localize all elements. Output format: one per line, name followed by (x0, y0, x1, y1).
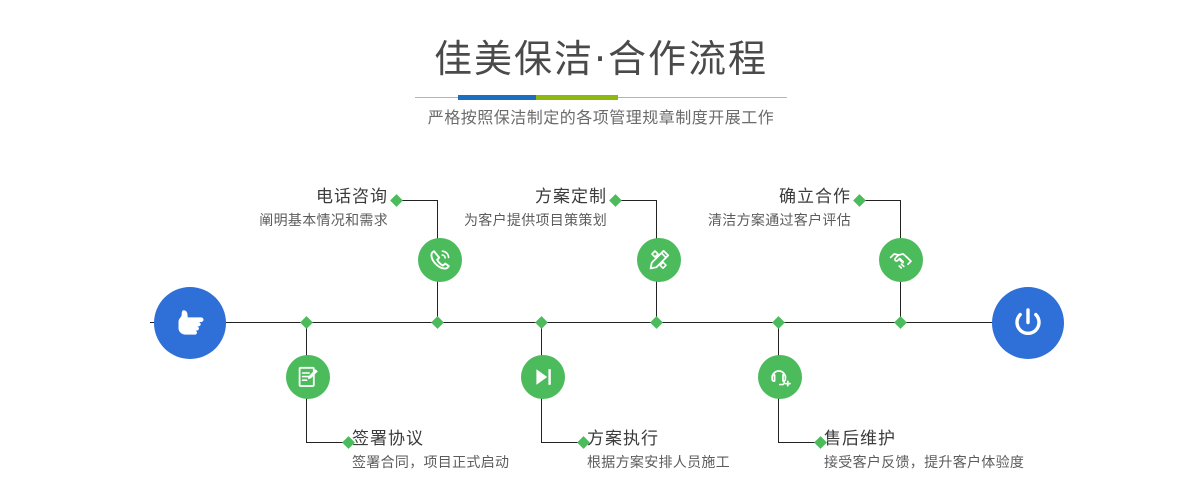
timeline-marker-step-5 (894, 316, 907, 329)
document-edit-icon (295, 364, 321, 390)
step-title-3: 方案定制 (390, 186, 607, 208)
step-node-after-sales[interactable] (758, 355, 802, 399)
flow-start-node (154, 287, 226, 359)
page-subtitle: 严格按照保洁制定的各项管理规章制度开展工作 (0, 106, 1202, 130)
headset-support-icon (767, 364, 793, 390)
timeline-marker-step-2 (300, 316, 313, 329)
step-label-plan-customization: 方案定制 为客户提供项目策策划 (390, 186, 607, 232)
timeline-marker-step-1 (431, 316, 444, 329)
step-node-sign-agreement[interactable] (286, 355, 330, 399)
step-desc-4: 根据方案安排人员施工 (587, 452, 817, 474)
divider-segment-green (536, 95, 618, 100)
step-desc-5: 清洁方案通过客户评估 (630, 210, 851, 232)
label-marker-step-3 (609, 194, 622, 207)
pencil-ruler-icon (646, 247, 672, 273)
title-divider (415, 95, 787, 100)
step-node-plan-execution[interactable] (521, 355, 565, 399)
step-desc-2: 签署合同，项目正式启动 (352, 452, 582, 474)
step-label-after-sales: 售后维护 接受客户反馈，提升客户体验度 (824, 428, 1084, 474)
timeline-marker-step-6 (772, 316, 785, 329)
cooperation-flow-infographic: 佳美保洁·合作流程 严格按照保洁制定的各项管理规章制度开展工作 (0, 0, 1202, 502)
phone-call-icon (427, 247, 453, 273)
label-marker-step-5 (853, 194, 866, 207)
timeline-marker-step-4 (535, 316, 548, 329)
step-label-establish-cooperation: 确立合作 清洁方案通过客户评估 (630, 186, 851, 232)
play-forward-icon (530, 364, 556, 390)
step-node-phone-consult[interactable] (418, 238, 462, 282)
step-desc-3: 为客户提供项目策策划 (390, 210, 607, 232)
step-node-establish-cooperation[interactable] (879, 238, 923, 282)
power-button-icon (1009, 304, 1047, 342)
flow-end-node (992, 287, 1064, 359)
page-title: 佳美保洁·合作流程 (0, 36, 1202, 82)
timeline-axis (150, 322, 1055, 323)
step-title-4: 方案执行 (587, 428, 817, 450)
hand-pointing-right-icon (170, 306, 210, 340)
step-label-phone-consult: 电话咨询 阐明基本情况和需求 (170, 186, 388, 232)
divider-segment-blue (458, 95, 536, 100)
step-node-plan-customization[interactable] (637, 238, 681, 282)
step-title-1: 电话咨询 (170, 186, 388, 208)
step-label-plan-execution: 方案执行 根据方案安排人员施工 (587, 428, 817, 474)
handshake-icon (888, 247, 914, 273)
timeline-marker-step-3 (650, 316, 663, 329)
step-title-2: 签署协议 (352, 428, 582, 450)
step-title-6: 售后维护 (824, 428, 1084, 450)
step-desc-6: 接受客户反馈，提升客户体验度 (824, 452, 1084, 474)
step-desc-1: 阐明基本情况和需求 (170, 210, 388, 232)
step-title-5: 确立合作 (630, 186, 851, 208)
step-label-sign-agreement: 签署协议 签署合同，项目正式启动 (352, 428, 582, 474)
